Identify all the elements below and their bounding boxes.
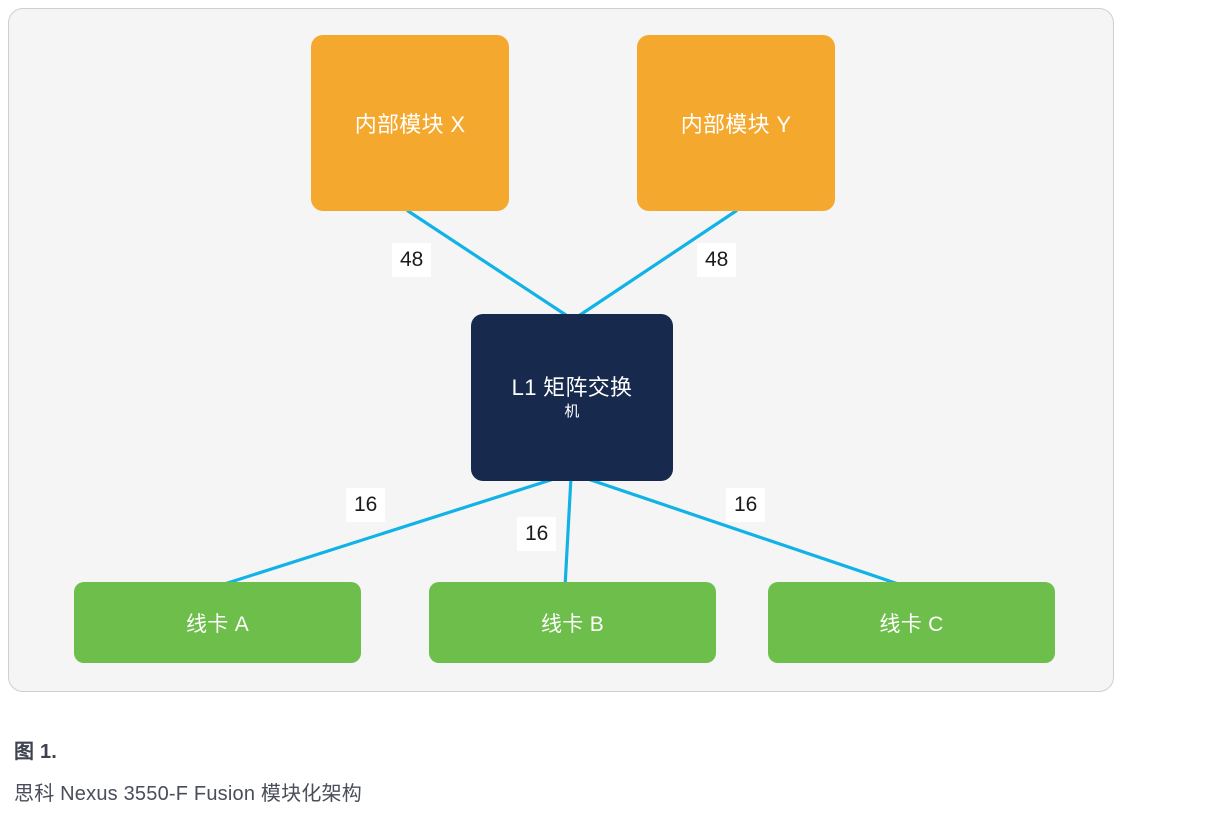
node-line-card-b[interactable]: 线卡 B [429, 582, 716, 663]
edge-label-switch-to-line-card-c: 16 [726, 488, 765, 522]
node-label-line-2: 机 [564, 403, 579, 421]
page-root: 内部模块 X 内部模块 Y L1 矩阵交换 机 线卡 A 线卡 B 线卡 C 4… [0, 0, 1208, 836]
edge-module-x-to-switch [408, 211, 575, 321]
edge-label-module-x-to-switch: 48 [392, 243, 431, 277]
figure-caption-label: 图 1. [14, 735, 1114, 764]
node-l1-matrix-switch[interactable]: L1 矩阵交换 机 [471, 314, 673, 481]
edge-label-switch-to-line-card-b: 16 [517, 517, 556, 551]
figure-caption: 图 1. 思科 Nexus 3550-F Fusion 模块化架构 [14, 735, 1114, 806]
node-line-card-a[interactable]: 线卡 A [74, 582, 361, 663]
edge-switch-to-line-card-a [215, 477, 560, 587]
edge-label-module-y-to-switch: 48 [697, 243, 736, 277]
node-label: 线卡 B [541, 608, 604, 638]
node-line-card-c[interactable]: 线卡 C [768, 582, 1055, 663]
node-label: 内部模块 X [355, 107, 466, 139]
node-internal-module-x[interactable]: 内部模块 X [311, 35, 509, 211]
figure-panel: 内部模块 X 内部模块 Y L1 矩阵交换 机 线卡 A 线卡 B 线卡 C 4… [8, 8, 1114, 692]
figure-caption-text: 思科 Nexus 3550-F Fusion 模块化架构 [14, 777, 1114, 806]
edge-label-switch-to-line-card-a: 16 [346, 488, 385, 522]
node-label: 内部模块 Y [681, 107, 792, 139]
node-label-line-1: L1 矩阵交换 [512, 375, 633, 401]
network-topology-diagram: 内部模块 X 内部模块 Y L1 矩阵交换 机 线卡 A 线卡 B 线卡 C 4… [9, 9, 1113, 691]
edge-switch-to-line-card-b [565, 477, 571, 587]
node-label: 线卡 C [879, 608, 943, 638]
node-internal-module-y[interactable]: 内部模块 Y [637, 35, 835, 211]
node-label: 线卡 A [186, 608, 249, 638]
